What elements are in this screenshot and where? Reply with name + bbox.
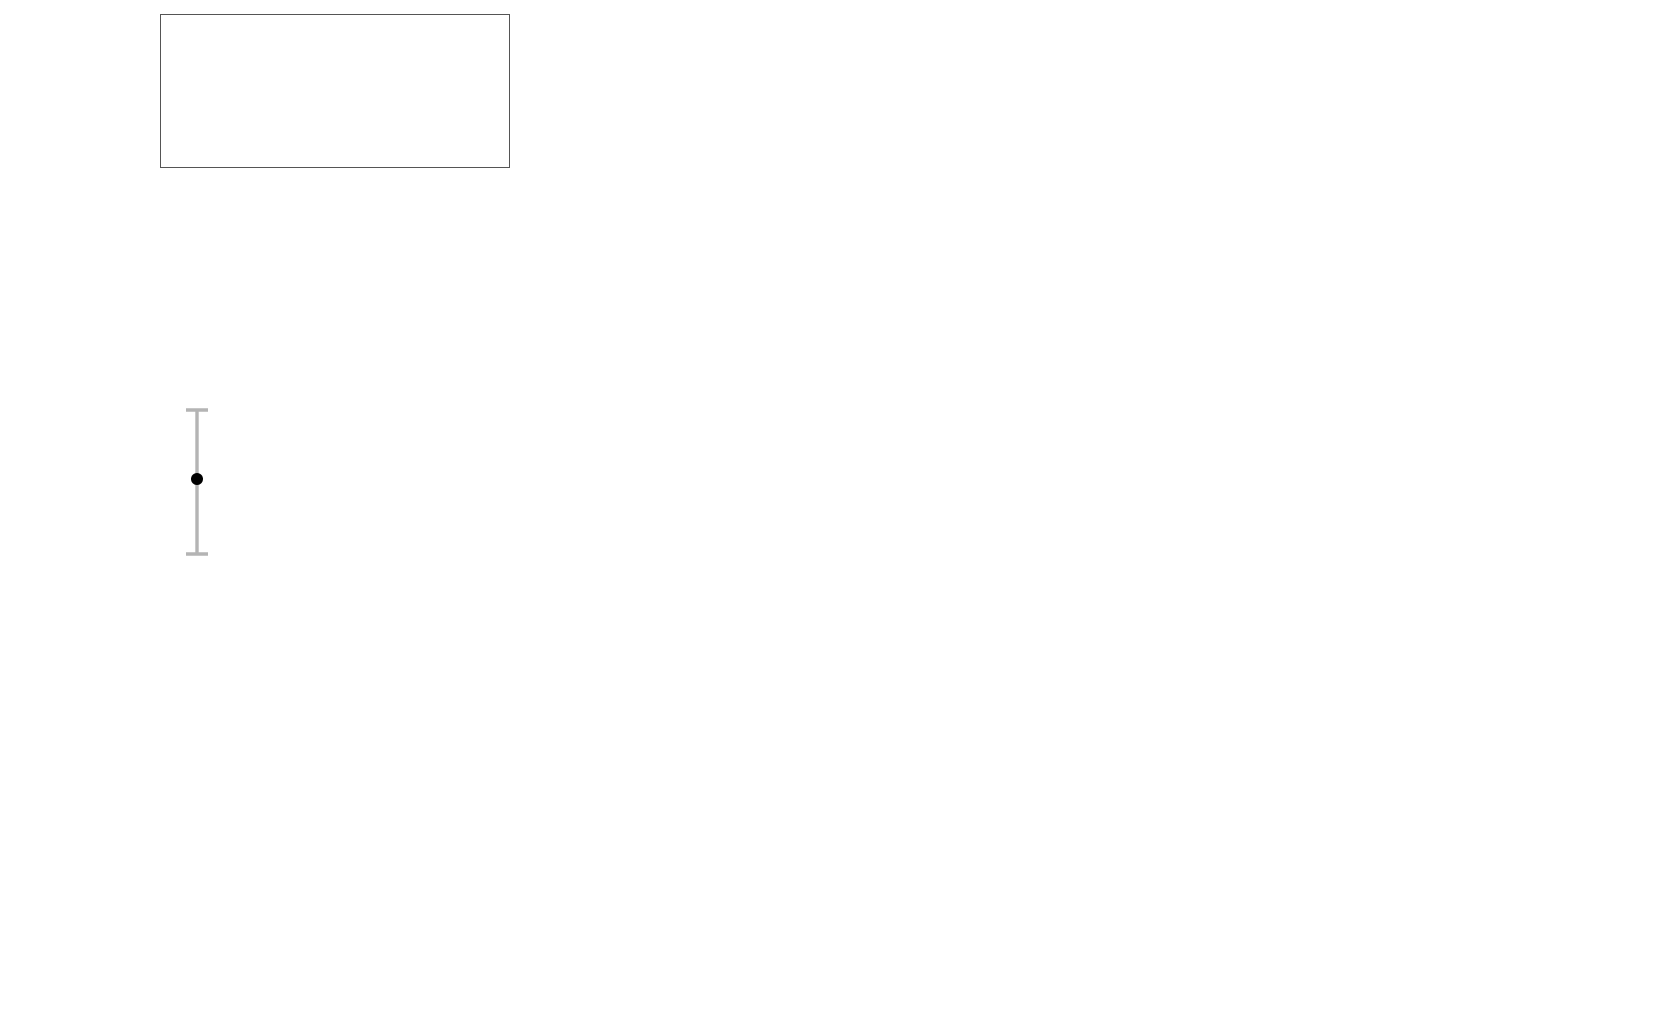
chart-root [0, 0, 1660, 1020]
typical-noise-errorbar [186, 410, 208, 554]
legend[interactable] [160, 14, 510, 168]
